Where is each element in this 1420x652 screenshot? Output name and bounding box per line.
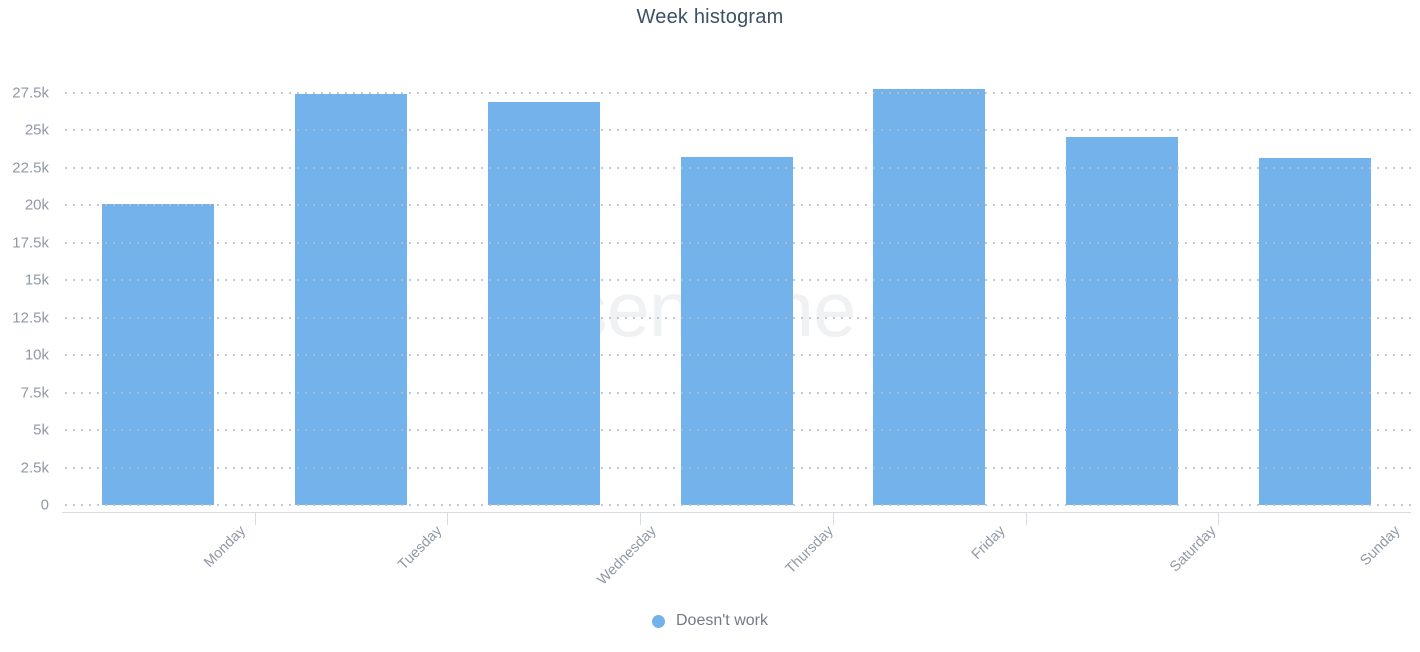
gridline [62, 392, 1411, 394]
gridline [62, 167, 1411, 169]
x-axis-line [62, 512, 1411, 513]
x-axis-tick-label: Friday [969, 523, 1009, 563]
x-axis-tick [447, 512, 448, 525]
y-axis-tick-label: 25k [0, 122, 49, 139]
x-axis-tick-label: Tuesday [395, 523, 445, 573]
gridline [62, 92, 1411, 94]
gridline [62, 242, 1411, 244]
gridline [62, 129, 1411, 131]
x-axis-tick [1218, 512, 1219, 525]
bar[interactable] [873, 89, 985, 506]
y-axis-tick-label: 5k [0, 422, 49, 439]
bar[interactable] [681, 157, 793, 505]
x-axis-tick [255, 512, 256, 525]
y-axis-tick-label: 22.5k [0, 159, 49, 176]
legend-item-label: Doesn't work [676, 612, 768, 630]
chart-legend: Doesn't work [0, 612, 1420, 630]
gridline [62, 354, 1411, 356]
y-axis-tick-label: 2.5k [0, 459, 49, 476]
gridline [62, 279, 1411, 281]
bar[interactable] [295, 94, 407, 505]
x-axis-tick [640, 512, 641, 525]
gridline [62, 429, 1411, 431]
gridline [62, 467, 1411, 469]
legend-item-doesnt-work[interactable]: Doesn't work [652, 612, 768, 630]
y-axis-tick-label: 7.5k [0, 384, 49, 401]
chart-title: Week histogram [0, 6, 1420, 29]
bar[interactable] [1259, 158, 1371, 505]
y-axis-tick-label: 10k [0, 347, 49, 364]
plot-area: sentione [62, 78, 1411, 505]
y-axis-tick-label: 17.5k [0, 234, 49, 251]
y-axis-tick-label: 15k [0, 272, 49, 289]
y-axis-tick-label: 12.5k [0, 309, 49, 326]
x-axis-tick-label: Saturday [1167, 523, 1219, 575]
gridline [62, 204, 1411, 206]
x-axis-tick-label: Monday [201, 523, 249, 571]
legend-marker-icon [652, 615, 665, 628]
gridline [62, 317, 1411, 319]
x-axis-tick-label: Thursday [782, 523, 836, 577]
x-axis-tick [833, 512, 834, 525]
y-axis-tick-label: 27.5k [0, 84, 49, 101]
y-axis-tick-label: 20k [0, 197, 49, 214]
bar[interactable] [1066, 137, 1178, 505]
y-axis-tick-label: 0 [0, 497, 49, 514]
bar[interactable] [488, 102, 600, 505]
bars-group [62, 78, 1411, 505]
x-axis-tick-label: Sunday [1357, 523, 1403, 569]
x-axis-tick-label: Wednesday [594, 523, 659, 588]
gridline [62, 504, 1411, 506]
week-histogram-chart: Week histogram sentione 02.5k5k7.5k10k12… [0, 0, 1420, 652]
x-axis-tick [1026, 512, 1027, 525]
